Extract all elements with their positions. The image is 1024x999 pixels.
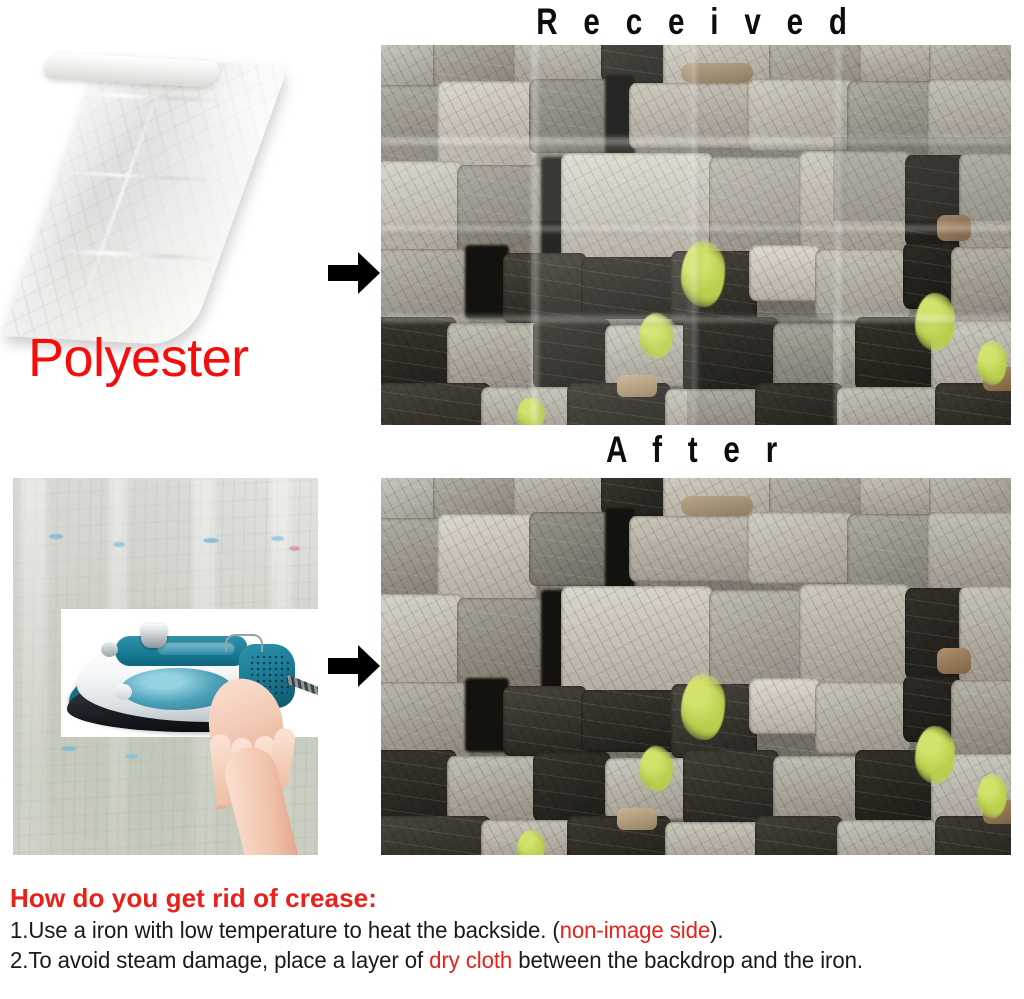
received-section-title: R e c e i v e d <box>444 2 948 42</box>
arrow-right-icon <box>328 252 380 299</box>
after-section-title: A f t e r <box>444 430 948 470</box>
fabric-swatch-body <box>2 56 289 346</box>
infographic-canvas: R e c e i v e d Polyester <box>0 0 1024 999</box>
fabric-roll-icon <box>12 55 312 355</box>
care-step-1-suffix: ). <box>710 917 723 943</box>
material-label: Polyester <box>28 331 249 385</box>
care-step-2-suffix: between the backdrop and the iron. <box>512 947 863 973</box>
care-step-2: 2.To avoid steam damage, place a layer o… <box>10 945 985 975</box>
rock-wall-texture <box>381 478 1011 855</box>
steam-iron-icon <box>63 606 318 756</box>
care-instructions: How do you get rid of crease: 1.Use a ir… <box>10 883 1020 975</box>
care-step-1: 1.Use a iron with low temperature to hea… <box>10 915 985 945</box>
iron-demo-photo <box>13 478 318 855</box>
care-step-1-highlight: non-image side <box>560 917 710 943</box>
iron-steam-knob <box>141 624 167 648</box>
received-backdrop-photo <box>381 45 1011 425</box>
care-heading: How do you get rid of crease: <box>10 883 1020 913</box>
iron-spray-button <box>115 684 132 700</box>
iron-temperature-dial <box>101 642 118 657</box>
care-step-1-prefix: 1.Use a iron with low temperature to hea… <box>10 917 560 943</box>
after-backdrop-photo <box>381 478 1011 855</box>
fabric-swatch-roll-edge <box>41 52 223 87</box>
arrow-right-icon <box>328 645 380 692</box>
care-step-2-prefix: 2.To avoid steam damage, place a layer o… <box>10 947 429 973</box>
hand <box>191 678 311 855</box>
care-step-2-highlight: dry cloth <box>429 947 512 973</box>
iron-cord-clip <box>225 634 263 652</box>
iron-handle-grip <box>157 642 235 655</box>
rock-wall-texture <box>381 45 1011 425</box>
wrist <box>220 742 307 855</box>
fingernail <box>215 800 227 809</box>
